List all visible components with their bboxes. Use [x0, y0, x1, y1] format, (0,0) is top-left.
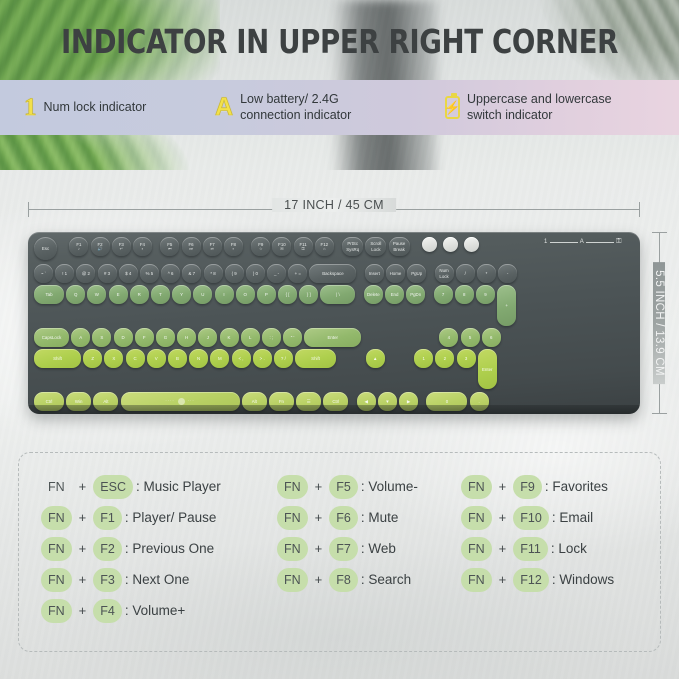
- key-slash[interactable]: ? /: [274, 349, 293, 368]
- keyboard-row-tab: Tab Q W E R T Y U I O P { [ } ] | \ Dele…: [34, 285, 634, 325]
- fn-target-key-chip[interactable]: F3: [93, 568, 122, 592]
- key-pad-enter[interactable]: Enter: [478, 349, 497, 389]
- key-ctrl-left[interactable]: Ctrl: [34, 392, 64, 411]
- key-f5[interactable]: F5⏮: [160, 237, 179, 256]
- keyboard-row-bottom: Ctrl Win Alt ···· ··· Alt Fn ☰ Ctrl ◀ ▼ …: [34, 392, 634, 411]
- fn-shortcut-row: FN+F2: Previous One: [41, 533, 221, 564]
- key-equals[interactable]: + =: [288, 264, 307, 283]
- key-pad-7[interactable]: 7: [434, 285, 453, 304]
- key-pad-multiply[interactable]: *: [477, 264, 496, 283]
- key-v[interactable]: V: [147, 349, 166, 368]
- key-f11[interactable]: F11⚿: [294, 237, 313, 256]
- fn-shortcut-row: FN+F5: Volume-: [277, 471, 418, 502]
- key-pad-9[interactable]: 9: [476, 285, 495, 304]
- width-dimension-label: 17 INCH / 45 CM: [272, 198, 396, 212]
- key-f9[interactable]: F9☆: [251, 237, 270, 256]
- key-q[interactable]: Q: [66, 285, 85, 304]
- fn-action-label: : Web: [361, 541, 396, 556]
- key-esc-label: Esc: [42, 246, 49, 251]
- fn-shortcut-row: FN+F10: Email: [461, 502, 614, 533]
- key-ctrl-right[interactable]: Ctrl: [323, 392, 348, 411]
- key-scroll-lock[interactable]: Scroll Lock: [365, 237, 386, 256]
- key-enter[interactable]: Enter: [304, 328, 361, 347]
- key-pause-break[interactable]: Pause Break: [389, 237, 410, 256]
- round-key-2[interactable]: [443, 237, 458, 252]
- key-pad-period[interactable]: .: [470, 392, 489, 411]
- key-l[interactable]: L: [241, 328, 260, 347]
- fn-target-key-chip[interactable]: F7: [329, 537, 358, 561]
- key-prtsc[interactable]: PrtSc SysRq: [342, 237, 363, 256]
- key-semicolon[interactable]: : ;: [262, 328, 281, 347]
- key-4[interactable]: $ 4: [119, 264, 138, 283]
- fn-plus-symbol: +: [315, 479, 323, 494]
- fn-target-key-chip[interactable]: F4: [93, 599, 122, 623]
- key-pad-5[interactable]: 5: [461, 328, 480, 347]
- fn-action-label: : Next One: [125, 572, 190, 587]
- fn-action-label: : Volume-: [361, 479, 418, 494]
- key-f8[interactable]: F8▪: [224, 237, 243, 256]
- page-title: INDICATOR IN UPPER RIGHT CORNER: [24, 22, 655, 61]
- keyboard-row-shift: Shift Z X C V B N M < , > . ? / Shift ▲ …: [34, 349, 634, 389]
- key-0[interactable]: ) 0: [246, 264, 265, 283]
- key-pad-divide[interactable]: /: [456, 264, 475, 283]
- fn-shortcut-row: FN+F11: Lock: [461, 533, 614, 564]
- key-spacebar[interactable]: ···· ···: [121, 392, 240, 411]
- key-pad-1[interactable]: 1: [414, 349, 433, 368]
- width-dimension-cap-left: [28, 202, 29, 217]
- key-end[interactable]: End: [385, 285, 404, 304]
- fn-action-label: : Windows: [552, 572, 614, 587]
- key-8[interactable]: * 8: [204, 264, 223, 283]
- key-f[interactable]: F: [135, 328, 154, 347]
- key-pad-4[interactable]: 4: [439, 328, 458, 347]
- key-y[interactable]: Y: [172, 285, 191, 304]
- key-f1[interactable]: F1♪: [69, 237, 88, 256]
- banner-battery-line2: connection indicator: [240, 108, 351, 122]
- banner-item-case-switch: ⚡ Uppercase and lowercase switch indicat…: [445, 92, 612, 123]
- key-alt-left[interactable]: Alt: [93, 392, 118, 411]
- fn-target-key-chip[interactable]: F11: [513, 537, 548, 561]
- key-r[interactable]: R: [130, 285, 149, 304]
- bolt-glyph: ⚡: [444, 101, 460, 114]
- fn-action-label: : Previous One: [125, 541, 214, 556]
- key-arrow-right[interactable]: ▶: [399, 392, 418, 411]
- banner-item-numlock-label: Num lock indicator: [44, 100, 147, 115]
- key-backspace[interactable]: Backspace: [309, 264, 356, 283]
- key-b[interactable]: B: [168, 349, 187, 368]
- key-5[interactable]: % 5: [140, 264, 159, 283]
- key-arrow-down[interactable]: ▼: [378, 392, 397, 411]
- fn-key-chip[interactable]: FN: [41, 506, 72, 530]
- fn-column-2: FN+F5: Volume-FN+F6: MuteFN+F7: WebFN+F8…: [277, 471, 418, 595]
- height-dimension: 5.5 INCH / 13.9 CM: [648, 232, 670, 414]
- key-f12[interactable]: F12⌂: [315, 237, 334, 256]
- fn-action-label: : Player/ Pause: [125, 510, 217, 525]
- fn-action-label: : Favorites: [545, 479, 608, 494]
- banner-case-line2: switch indicator: [467, 108, 552, 122]
- banner-item-battery: A Low battery/ 2.4G connection indicator: [215, 92, 445, 123]
- key-home[interactable]: Home: [386, 264, 405, 283]
- fn-action-label: : Mute: [361, 510, 399, 525]
- key-f3[interactable]: F3↵: [112, 237, 131, 256]
- round-key-1[interactable]: [422, 237, 437, 252]
- key-pad-2[interactable]: 2: [435, 349, 454, 368]
- fn-key-chip[interactable]: FN: [41, 599, 72, 623]
- numlock-1-icon: 1: [24, 95, 37, 120]
- fn-shortcut-row: FN+F1: Player/ Pause: [41, 502, 221, 533]
- height-dimension-cap-bottom: [652, 413, 667, 414]
- key-z[interactable]: Z: [83, 349, 102, 368]
- battery-bolt-icon: ⚡: [445, 96, 460, 119]
- fn-key-chip[interactable]: FN: [461, 537, 492, 561]
- key-n[interactable]: N: [189, 349, 208, 368]
- fn-key-chip[interactable]: FN: [41, 568, 72, 592]
- fn-plus-symbol: +: [315, 541, 323, 556]
- key-bracket-left[interactable]: { [: [278, 285, 297, 304]
- banner-battery-line1: Low battery/ 2.4G: [240, 92, 339, 106]
- key-f7[interactable]: F7⏯: [203, 237, 222, 256]
- fn-target-key-chip[interactable]: F1: [93, 506, 122, 530]
- key-pad-minus[interactable]: -: [498, 264, 517, 283]
- key-m[interactable]: M: [210, 349, 229, 368]
- key-s[interactable]: S: [92, 328, 111, 347]
- key-i[interactable]: I: [215, 285, 234, 304]
- fn-shortcut-row: FN+F12: Windows: [461, 564, 614, 595]
- key-c[interactable]: C: [126, 349, 145, 368]
- key-capslock[interactable]: CapsLock: [34, 328, 69, 347]
- fn-shortcut-row: FN+F3: Next One: [41, 564, 221, 595]
- key-u[interactable]: U: [193, 285, 212, 304]
- key-pad-plus[interactable]: +: [497, 285, 516, 325]
- fn-shortcut-row: FN+F9: Favorites: [461, 471, 614, 502]
- round-key-3[interactable]: [464, 237, 479, 252]
- fn-action-label: : Email: [552, 510, 593, 525]
- fn-plus-symbol: +: [499, 572, 507, 587]
- height-dimension-label: 5.5 INCH / 13.9 CM: [653, 262, 665, 384]
- key-9[interactable]: ( 9: [225, 264, 244, 283]
- key-h[interactable]: H: [177, 328, 196, 347]
- key-p[interactable]: P: [257, 285, 276, 304]
- fn-plus-symbol: +: [499, 479, 507, 494]
- fn-plus-symbol: +: [499, 541, 507, 556]
- fn-key-chip[interactable]: FN: [277, 568, 308, 592]
- fn-target-key-chip[interactable]: F12: [513, 568, 549, 592]
- key-f6[interactable]: F6⏭: [182, 237, 201, 256]
- key-2[interactable]: @ 2: [76, 264, 95, 283]
- key-bracket-right[interactable]: } ]: [299, 285, 318, 304]
- key-shift-left[interactable]: Shift: [34, 349, 81, 368]
- banner-item-case-switch-label: Uppercase and lowercase switch indicator: [467, 92, 612, 123]
- key-esc[interactable]: Esc: [34, 237, 57, 260]
- fn-key-chip[interactable]: FN: [277, 475, 308, 499]
- fn-key-chip[interactable]: FN: [461, 568, 492, 592]
- fn-target-key-chip[interactable]: F8: [329, 568, 358, 592]
- key-w[interactable]: W: [87, 285, 106, 304]
- key-t[interactable]: T: [151, 285, 170, 304]
- fn-shortcut-row: FN+F4: Volume+: [41, 595, 221, 626]
- key-numlock[interactable]: Num Lock: [435, 264, 454, 283]
- key-comma[interactable]: < ,: [232, 349, 251, 368]
- fn-column-1: FN+ESC: Music PlayerFN+F1: Player/ Pause…: [41, 471, 221, 626]
- fn-action-label: : Lock: [551, 541, 587, 556]
- key-win-left[interactable]: Win: [66, 392, 91, 411]
- fn-key-chip[interactable]: FN: [41, 475, 72, 499]
- fn-shortcut-row: FN+F6: Mute: [277, 502, 418, 533]
- keyboard-row-numbers: ~ ` ! 1 @ 2 # 3 $ 4 % 5 ^ 6 & 7 * 8 ( 9 …: [34, 264, 634, 283]
- fn-target-key-chip[interactable]: F9: [513, 475, 542, 499]
- banner-item-numlock: 1 Num lock indicator: [0, 95, 215, 120]
- key-o[interactable]: O: [236, 285, 255, 304]
- keyboard-row-function: Esc F1♪ F2🔊 F3↵ F4▪ F5⏮ F6⏭ F7⏯ F8▪ F9☆ …: [34, 237, 634, 260]
- key-f10[interactable]: F10✉: [272, 237, 291, 256]
- fn-plus-symbol: +: [79, 479, 87, 494]
- fn-plus-symbol: +: [315, 510, 323, 525]
- fn-shortcut-row: FN+F7: Web: [277, 533, 418, 564]
- fn-key-chip[interactable]: FN: [461, 506, 492, 530]
- key-pad-6[interactable]: 6: [482, 328, 501, 347]
- key-a[interactable]: A: [71, 328, 90, 347]
- key-backtick[interactable]: ~ `: [34, 264, 53, 283]
- key-f4[interactable]: F4▪: [133, 237, 152, 256]
- fn-plus-symbol: +: [79, 603, 87, 618]
- key-minus[interactable]: _ -: [267, 264, 286, 283]
- spacebar-brand-logo-icon: ···· ···: [165, 398, 194, 405]
- key-1[interactable]: ! 1: [55, 264, 74, 283]
- fn-target-key-chip[interactable]: F5: [329, 475, 358, 499]
- fn-column-3: FN+F9: FavoritesFN+F10: EmailFN+F11: Loc…: [461, 471, 614, 595]
- keyboard-product-image: 1 A ⚿ Esc F1♪ F2🔊 F3↵ F4▪ F5⏮ F6⏭ F7⏯ F8…: [28, 232, 640, 414]
- key-j[interactable]: J: [198, 328, 217, 347]
- fn-action-label: : Volume+: [125, 603, 185, 618]
- key-alt-right[interactable]: Alt: [242, 392, 267, 411]
- key-tab[interactable]: Tab: [34, 285, 64, 304]
- letter-a-icon: A: [215, 95, 233, 120]
- key-pad-3[interactable]: 3: [457, 349, 476, 368]
- fn-key-chip[interactable]: FN: [277, 537, 308, 561]
- key-3[interactable]: # 3: [98, 264, 117, 283]
- key-shift-right[interactable]: Shift: [295, 349, 336, 368]
- key-quote[interactable]: " ': [283, 328, 302, 347]
- fn-plus-symbol: +: [315, 572, 323, 587]
- fn-key-chip[interactable]: FN: [41, 537, 72, 561]
- key-f2[interactable]: F2🔊: [91, 237, 110, 256]
- key-arrow-left[interactable]: ◀: [357, 392, 376, 411]
- fn-shortcut-row: FN+F8: Search: [277, 564, 418, 595]
- media-round-keys: [422, 237, 479, 252]
- fn-action-label: : Music Player: [136, 479, 221, 494]
- key-fn[interactable]: Fn: [269, 392, 294, 411]
- key-period[interactable]: > .: [253, 349, 272, 368]
- fn-target-key-chip[interactable]: F10: [513, 506, 549, 530]
- key-pgdn[interactable]: PgDn: [406, 285, 425, 304]
- key-menu[interactable]: ☰: [296, 392, 321, 411]
- key-6[interactable]: ^ 6: [161, 264, 180, 283]
- fn-plus-symbol: +: [79, 541, 87, 556]
- spacebar-dots-left: ····: [165, 399, 174, 404]
- keyboard-row-home: CapsLock A S D F G H J K L : ; " ' Enter…: [34, 328, 634, 347]
- spacebar-dots-right: ···: [188, 399, 195, 404]
- width-dimension-cap-right: [639, 202, 640, 217]
- key-e[interactable]: E: [109, 285, 128, 304]
- fn-key-chip[interactable]: FN: [277, 506, 308, 530]
- key-pad-8[interactable]: 8: [455, 285, 474, 304]
- banner-item-battery-label: Low battery/ 2.4G connection indicator: [240, 92, 351, 123]
- fn-plus-symbol: +: [79, 572, 87, 587]
- key-backslash[interactable]: | \: [320, 285, 355, 304]
- key-insert[interactable]: Insert: [365, 264, 384, 283]
- key-delete[interactable]: Delete: [364, 285, 383, 304]
- width-dimension: 17 INCH / 45 CM: [28, 198, 640, 220]
- fn-plus-symbol: +: [79, 510, 87, 525]
- key-g[interactable]: G: [156, 328, 175, 347]
- fn-target-key-chip[interactable]: ESC: [93, 475, 133, 499]
- fn-target-key-chip[interactable]: F2: [93, 537, 122, 561]
- key-pad-0[interactable]: 0: [426, 392, 467, 411]
- fn-action-label: : Search: [361, 572, 411, 587]
- spacebar-logo-circle: [178, 398, 185, 405]
- key-k[interactable]: K: [220, 328, 239, 347]
- banner-case-line1: Uppercase and lowercase: [467, 92, 612, 106]
- key-arrow-up[interactable]: ▲: [366, 349, 385, 368]
- fn-key-chip[interactable]: FN: [461, 475, 492, 499]
- fn-target-key-chip[interactable]: F6: [329, 506, 358, 530]
- height-dimension-cap-top: [652, 232, 667, 233]
- fn-shortcut-panel: FN+ESC: Music PlayerFN+F1: Player/ Pause…: [18, 452, 661, 652]
- key-pgup[interactable]: PgUp: [407, 264, 426, 283]
- fn-shortcut-row: FN+ESC: Music Player: [41, 471, 221, 502]
- key-d[interactable]: D: [114, 328, 133, 347]
- key-x[interactable]: X: [104, 349, 123, 368]
- key-7[interactable]: & 7: [182, 264, 201, 283]
- indicator-banner: 1 Num lock indicator A Low battery/ 2.4G…: [0, 80, 679, 135]
- fn-plus-symbol: +: [499, 510, 507, 525]
